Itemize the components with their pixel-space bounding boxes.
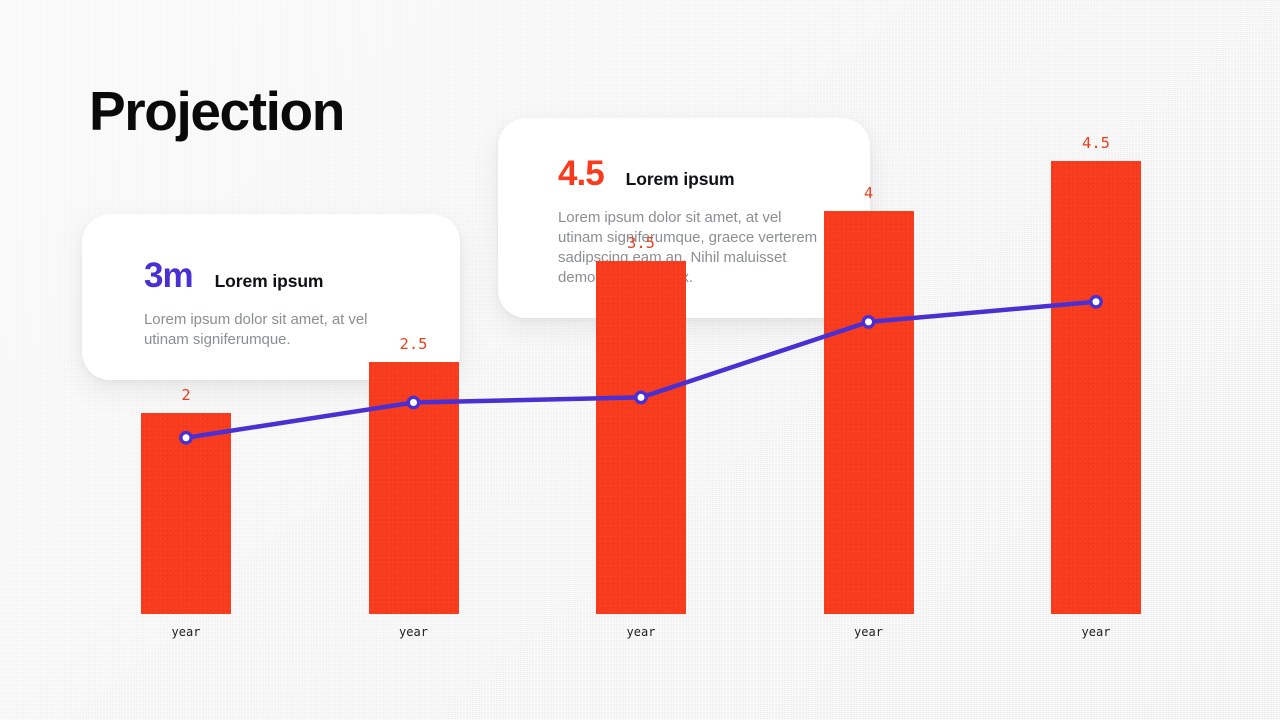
trend-marker-2	[408, 397, 418, 407]
trend-line	[186, 302, 1096, 438]
trend-marker-4	[863, 317, 873, 327]
projection-chart: 2 2.5 3.5 4 4.5 year year year year year	[0, 0, 1280, 720]
trend-marker-1	[181, 433, 191, 443]
trend-marker-5	[1091, 297, 1101, 307]
trend-line-layer	[0, 0, 1280, 720]
trend-marker-3	[636, 392, 646, 402]
